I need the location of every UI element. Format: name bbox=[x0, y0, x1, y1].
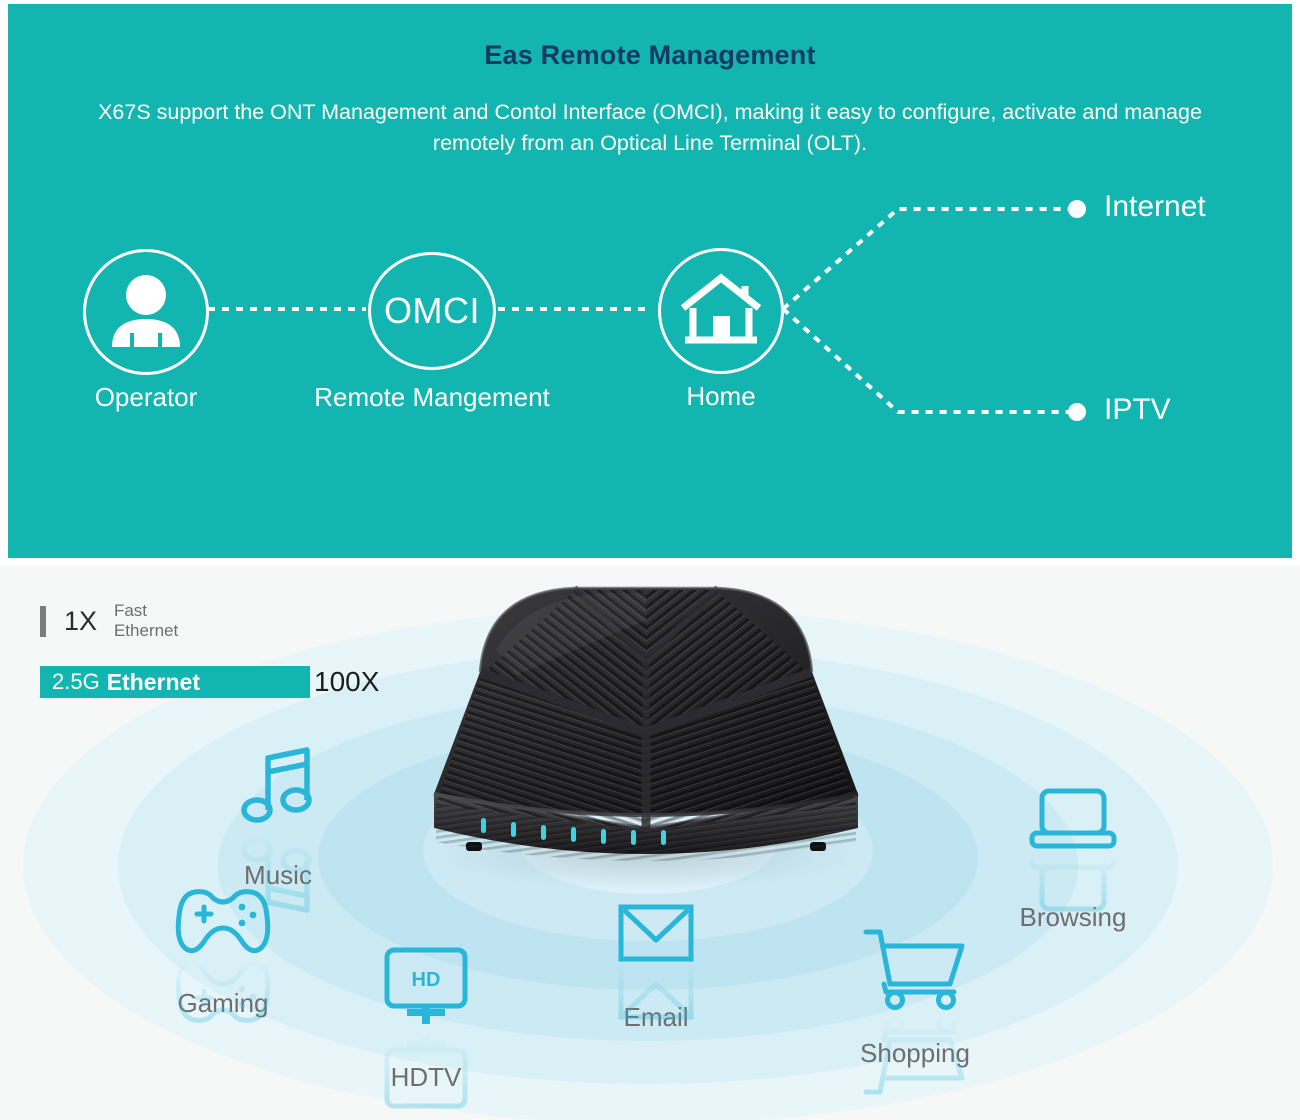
endpoint-label-internet: Internet bbox=[1104, 190, 1206, 224]
highlight-multiplier: 100X bbox=[314, 666, 379, 698]
activity-label-shopping: Shopping bbox=[842, 1038, 988, 1069]
house-icon bbox=[679, 272, 763, 350]
hd-badge: HD bbox=[412, 969, 441, 991]
activity-label-email: Email bbox=[586, 1002, 726, 1033]
activity-label-hdtv: HDTV bbox=[356, 1062, 496, 1093]
internet-endpoint-dot bbox=[1068, 200, 1086, 218]
shopping-cart-icon bbox=[862, 926, 968, 1012]
activity-browsing: Browsing bbox=[1000, 788, 1146, 933]
highlight-speed: 2.5G bbox=[52, 669, 100, 695]
remote-management-panel: Eas Remote Management X67S support the O… bbox=[8, 4, 1292, 558]
baseline-name: Fast Ethernet bbox=[114, 601, 181, 641]
diagram-node-operator: Operator bbox=[83, 249, 209, 375]
activity-hdtv: HD HDTV bbox=[356, 946, 496, 1093]
highlight-bar-row: 2.5G Ethernet 100X bbox=[40, 665, 379, 699]
activity-gaming: Gaming bbox=[148, 884, 298, 1019]
iptv-endpoint-dot bbox=[1068, 403, 1086, 421]
activity-label-gaming: Gaming bbox=[148, 988, 298, 1019]
laptop-icon bbox=[1029, 788, 1117, 850]
remote-management-diagram: Operator OMCI Remote Mangement bbox=[8, 4, 1292, 558]
home-circle bbox=[658, 248, 784, 374]
diagram-node-home: Home bbox=[658, 248, 784, 374]
baseline-bar-row: 1X Fast Ethernet bbox=[40, 604, 181, 638]
diagram-node-omci: OMCI Remote Mangement bbox=[368, 252, 496, 370]
highlight-name: Ethernet bbox=[107, 669, 200, 696]
operator-circle bbox=[83, 249, 209, 375]
activity-shopping: Shopping bbox=[842, 926, 988, 1069]
omci-circle: OMCI bbox=[368, 252, 496, 370]
music-note-icon bbox=[235, 744, 321, 830]
baseline-bar bbox=[40, 606, 46, 637]
baseline-multiplier: 1X bbox=[64, 606, 97, 637]
highlight-bar: 2.5G Ethernet bbox=[40, 666, 310, 698]
router-device bbox=[406, 580, 886, 890]
connectivity-panel: 1X Fast Ethernet 2.5G Ethernet 100X bbox=[0, 566, 1300, 1120]
omci-text: OMCI bbox=[384, 290, 480, 332]
user-icon bbox=[108, 273, 184, 351]
diagram-label-home: Home bbox=[541, 381, 901, 412]
envelope-icon bbox=[618, 904, 694, 962]
activity-email: Email bbox=[586, 904, 726, 1033]
endpoint-label-iptv: IPTV bbox=[1104, 393, 1171, 427]
television-icon: HD bbox=[381, 946, 471, 1028]
gamepad-icon bbox=[173, 884, 273, 956]
activity-label-browsing: Browsing bbox=[1000, 902, 1146, 933]
activity-music: Music bbox=[208, 744, 348, 891]
